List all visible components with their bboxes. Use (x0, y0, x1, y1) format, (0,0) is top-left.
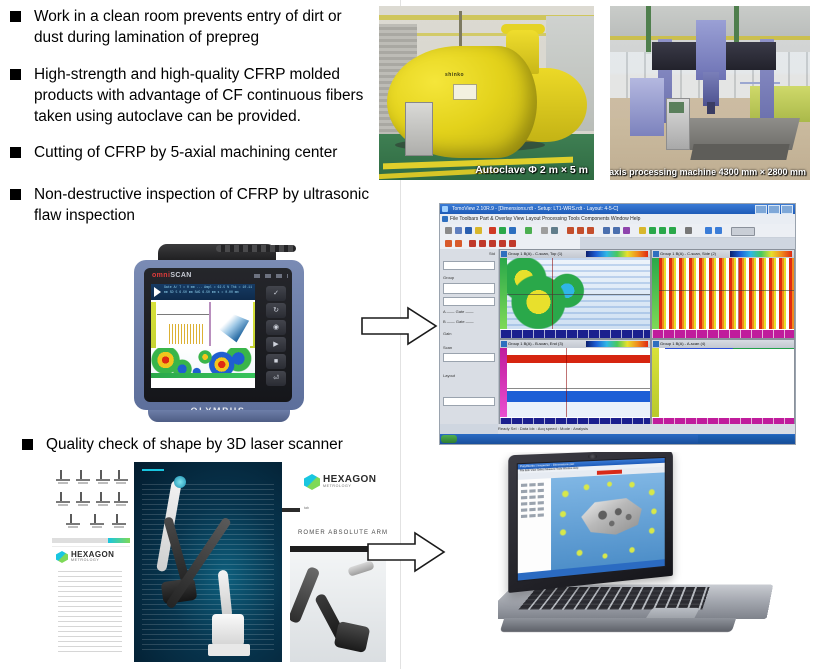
tool-layout-a-icon[interactable] (567, 227, 574, 234)
side-control-panel[interactable]: Std Group A —— Gate —— B —— Gate —— Gain… (440, 249, 499, 424)
vertical-cursor[interactable] (738, 258, 739, 329)
pane-bscan-end[interactable]: Group 1 B(A) - B-scan, End (3) (499, 339, 651, 427)
bullet-square-icon (10, 69, 21, 80)
bullet-square-icon (22, 439, 33, 450)
color-palette-legend (586, 251, 648, 257)
bscan-plot[interactable] (507, 348, 650, 417)
tool-delete-icon[interactable] (469, 240, 476, 247)
pane-title: Group 1 B(A) - A-scan (4) (660, 341, 705, 346)
device-base (148, 410, 290, 422)
gate-a-label: A —— Gate —— (443, 309, 473, 314)
pane-icon (653, 251, 659, 257)
tool-save-file-icon[interactable] (455, 240, 462, 247)
romer-arm-foot (208, 644, 250, 656)
console-screen (669, 102, 684, 113)
bullet-item-cutting: Cutting of CFRP by 5-axial machining cen… (10, 142, 370, 163)
screen-readout-text: Gate A/ T = 0 mm ... Ampl = 62.5 % Thk =… (164, 285, 254, 294)
webcam-icon (588, 454, 597, 459)
horizontal-cursor[interactable] (507, 388, 650, 389)
pane-vertical-axis (500, 258, 507, 329)
position-field[interactable] (443, 261, 495, 270)
tool-cursor-icon[interactable] (603, 227, 610, 234)
color-palette-legend (586, 341, 648, 347)
brochure-spread-dark (134, 462, 282, 662)
gate-i-marker[interactable] (665, 348, 733, 349)
channel-field[interactable] (443, 297, 495, 306)
photo-five-axis-machine: 5-axis processing machine 4300 mm × 2800… (610, 6, 810, 180)
photo-laptop-3d-inspection: PolyWorks | Inspector - Dimensions.pwi F… (498, 452, 808, 648)
tool-gate-icon[interactable] (613, 227, 620, 234)
play-icon (154, 287, 161, 297)
hexagon-mark-icon (304, 474, 320, 490)
key-stop-icon[interactable]: ■ (266, 354, 286, 369)
autoclave-brand-text: shinko (445, 72, 464, 78)
handle-grip (216, 245, 296, 252)
tool-layout-b-icon[interactable] (577, 227, 584, 234)
pane-cscan-side[interactable]: Group 1 B(A) - C-scan, Side (2) (651, 249, 795, 339)
tool-paste-icon[interactable] (489, 240, 496, 247)
tool-play-icon[interactable] (499, 227, 506, 234)
arm-joint (334, 621, 371, 653)
3d-part-features (577, 496, 643, 538)
pane-title: Group 1 B(A) - C-scan, Side (2) (660, 251, 716, 256)
arrow-to-ultrasonic-software (360, 305, 438, 347)
tool-grid-icon[interactable] (541, 227, 548, 234)
horizontal-cursor[interactable] (507, 294, 650, 295)
device-keypad[interactable]: ✓ ↻ ◉ ▶ ■ ⏎ (266, 286, 288, 390)
tool-gain-icon[interactable] (659, 227, 666, 234)
autoclave-nameplate (453, 84, 477, 100)
status-leds (254, 274, 288, 278)
key-play-icon[interactable]: ▶ (266, 337, 286, 352)
brochure-tab-label: tab (304, 506, 309, 510)
system-tray[interactable] (698, 435, 794, 443)
spindle-tool (707, 102, 715, 114)
layout-select[interactable] (443, 397, 495, 406)
tool-check-icon[interactable] (525, 227, 532, 234)
key-record-icon[interactable]: ◉ (266, 320, 286, 335)
tool-stop-icon[interactable] (509, 227, 516, 234)
color-palette-legend (730, 251, 792, 257)
romer-arm-probe-icon (174, 476, 186, 488)
spindle (703, 72, 719, 106)
a-scan-gate-line (157, 314, 209, 315)
vertical-cursor[interactable] (566, 348, 567, 417)
tool-zoom-icon[interactable] (551, 227, 558, 234)
key-refresh-icon[interactable]: ↻ (266, 303, 286, 318)
pane-vertical-axis (652, 348, 659, 417)
pane-ascan[interactable]: Group 1 B(A) - A-scan (4) (651, 339, 795, 427)
3d-viewport[interactable] (551, 472, 665, 570)
hexagon-logo-text: HEXAGON METROLOGY (71, 551, 114, 563)
gate-b-marker[interactable] (733, 348, 795, 349)
tool-open-file-icon[interactable] (445, 240, 452, 247)
bullet-square-icon (10, 11, 21, 22)
scan-field[interactable] (443, 353, 495, 362)
brochure-leaflet-page: HEXAGON METROLOGY (52, 546, 130, 662)
tool-pointer-icon[interactable] (445, 227, 452, 234)
omniscan-brand-text: omniSCAN (152, 272, 192, 279)
a-scan-signal (169, 324, 203, 344)
pane-icon (501, 251, 507, 257)
maximize-icon[interactable] (768, 205, 780, 214)
photo-omniscan-device: omniSCAN Gate A/ T = 0 mm ... Ampl = 62.… (118, 244, 318, 422)
pane-horizontal-axis (652, 330, 794, 338)
brand-rest: SCAN (170, 272, 191, 279)
horizontal-cursor[interactable] (659, 290, 794, 291)
bullet-item-cfrp-molded: High-strength and high-quality CFRP mold… (10, 64, 370, 127)
pane-title: Group 1 B(A) - C-scan, Top (1) (508, 251, 562, 256)
bullet-item-quality-check: Quality check of shape by 3D laser scann… (22, 434, 382, 455)
tool-filter-icon[interactable] (649, 227, 656, 234)
hexagon-logo-small: HEXAGON METROLOGY (56, 551, 114, 563)
tool-ruler-icon[interactable] (685, 227, 692, 234)
tool-sync-icon[interactable] (669, 227, 676, 234)
bullet-square-icon (10, 147, 21, 158)
five-axis-caption: 5-axis processing machine 4300 mm × 2800… (610, 167, 806, 177)
pane-header: Group 1 B(A) - B-scan, End (3) (500, 340, 650, 348)
window-title-text: TomoView 2.10R.9 - [Dimensions.rdt - Set… (452, 206, 618, 212)
brochure-accent-bar (52, 538, 130, 543)
laptop-screen[interactable]: PolyWorks | Inspector - Dimensions.pwi F… (517, 457, 666, 582)
bullet-text: Quality check of shape by 3D laser scann… (46, 434, 343, 455)
pane-horizontal-axis (500, 330, 650, 338)
c-scan-axis-bar (151, 373, 255, 378)
scan-label: Scan (443, 345, 452, 350)
tool-eraser-icon[interactable] (715, 227, 722, 234)
tool-measure-icon[interactable] (623, 227, 630, 234)
pane-title: Group 1 B(A) - B-scan, End (3) (508, 341, 563, 346)
key-enter-icon[interactable]: ⏎ (266, 371, 286, 386)
pane-icon (653, 341, 659, 347)
hexagon-tagline: METROLOGY (323, 485, 376, 489)
group-label: Group (443, 275, 454, 280)
tool-print-icon[interactable] (499, 240, 506, 247)
os-taskbar[interactable] (440, 434, 795, 444)
tool-open-icon[interactable] (455, 227, 462, 234)
side-view-plot[interactable] (659, 258, 794, 329)
a-scan-view (157, 302, 211, 346)
pane-cscan-top[interactable]: Group 1 B(A) - C-scan, Top (1) (499, 249, 651, 339)
bullet-text: High-strength and high-quality CFRP mold… (34, 64, 370, 127)
menubar-text: File Toolbars Part & Overlay View Layout… (450, 216, 640, 222)
layout-label: Layout (443, 373, 455, 378)
autoclave-caption: Autoclave Φ 2 m × 5 m (475, 164, 588, 176)
model-tree-panel[interactable] (518, 478, 552, 573)
arm-segment-1 (290, 566, 320, 624)
pane-header: Group 1 B(A) - A-scan (4) (652, 340, 794, 348)
bullet-square-icon (10, 189, 21, 200)
bullet-item-nondestructive: Non-destructive inspection of CFRP by ul… (10, 184, 370, 226)
bullet-item-clean-room: Work in a clean room prevents entry of d… (10, 6, 370, 48)
pane-header: Group 1 B(A) - C-scan, Top (1) (500, 250, 650, 258)
brochure-body-text-lines (58, 571, 122, 655)
machine-table-base (690, 144, 789, 160)
brochure-rule (142, 469, 164, 471)
s-scan-view (211, 302, 253, 346)
window-titlebar: TomoView 2.10R.9 - [Dimensions.rdt - Set… (440, 204, 795, 214)
pane-header: Group 1 B(A) - C-scan, Side (2) (652, 250, 794, 258)
laptop-keyboard[interactable] (518, 587, 709, 609)
gate-b-label: B —— Gate —— (443, 319, 474, 324)
tool-save-icon[interactable] (465, 227, 472, 234)
bullet-text: Work in a clean room prevents entry of d… (34, 6, 370, 48)
green-machine-enclosure (750, 86, 810, 122)
romer-arm-base-b (212, 614, 244, 646)
tool-palette-icon[interactable] (639, 227, 646, 234)
s-scan-sector (213, 304, 251, 344)
brochure-tab-marker (282, 508, 300, 512)
c-scan-view (151, 348, 255, 378)
hexagon-mark-icon (56, 551, 68, 563)
tool-export-icon[interactable] (509, 240, 516, 247)
photo-hexagon-brochure: HEXAGON METROLOGY HEXAGON METR (52, 462, 392, 662)
brand-prefix: omni (152, 272, 170, 279)
window-controls[interactable] (755, 205, 793, 214)
pane-vertical-axis (500, 348, 507, 417)
screenshot-ultrasonic-software: TomoView 2.10R.9 - [Dimensions.rdt - Set… (439, 203, 796, 445)
tool-zoom-level-select[interactable] (731, 227, 755, 236)
key-check-icon[interactable]: ✓ (266, 286, 286, 301)
photo-autoclave: shinko Autoclave Φ 2 m × 5 m (379, 6, 594, 180)
toolbar-primary[interactable] (440, 224, 795, 238)
gain-label: Gain (443, 331, 451, 336)
statusbar: Ready Sel : Data Idx : Acq speed : Mode … (498, 424, 795, 434)
pane-vertical-axis (652, 258, 659, 329)
tool-record-icon[interactable] (489, 227, 496, 234)
pane-icon (501, 341, 507, 347)
slide-canvas: Work in a clean room prevents entry of d… (0, 0, 815, 669)
green-column (646, 6, 651, 54)
start-button[interactable] (441, 435, 457, 443)
device-screen: Gate A/ T = 0 mm ... Ampl = 62.5 % Thk =… (151, 284, 255, 388)
tool-pencil-icon[interactable] (705, 227, 712, 234)
panel-title-label: Std (489, 251, 495, 256)
document-icon (442, 216, 448, 222)
hexagon-logo-text: HEXAGON METROLOGY (323, 475, 376, 489)
close-icon[interactable] (781, 205, 793, 214)
tool-copy-icon[interactable] (479, 240, 486, 247)
app-icon (442, 206, 448, 212)
minimize-icon[interactable] (755, 205, 767, 214)
overhead-pipe (459, 11, 462, 51)
hexagon-tagline: METROLOGY (71, 559, 114, 563)
screen-readout-bar: Gate A/ T = 0 mm ... Ampl = 62.5 % Thk =… (151, 284, 255, 300)
bullet-text: Cutting of CFRP by 5-axial machining cen… (34, 142, 337, 163)
machine-head (696, 20, 726, 80)
control-cabinet (405, 102, 433, 156)
tool-layout-c-icon[interactable] (587, 227, 594, 234)
tool-folder-icon[interactable] (475, 227, 482, 234)
electrical-cabinet (630, 78, 664, 136)
arrow-to-laptop-software (366, 530, 446, 574)
hexagon-logo-large: HEXAGON METROLOGY (304, 474, 376, 490)
bullet-text: Non-destructive inspection of CFRP by ul… (34, 184, 370, 226)
group-selector[interactable] (443, 283, 495, 294)
brochure-icon-grid (52, 470, 130, 532)
laptop-front-edge (500, 618, 737, 632)
